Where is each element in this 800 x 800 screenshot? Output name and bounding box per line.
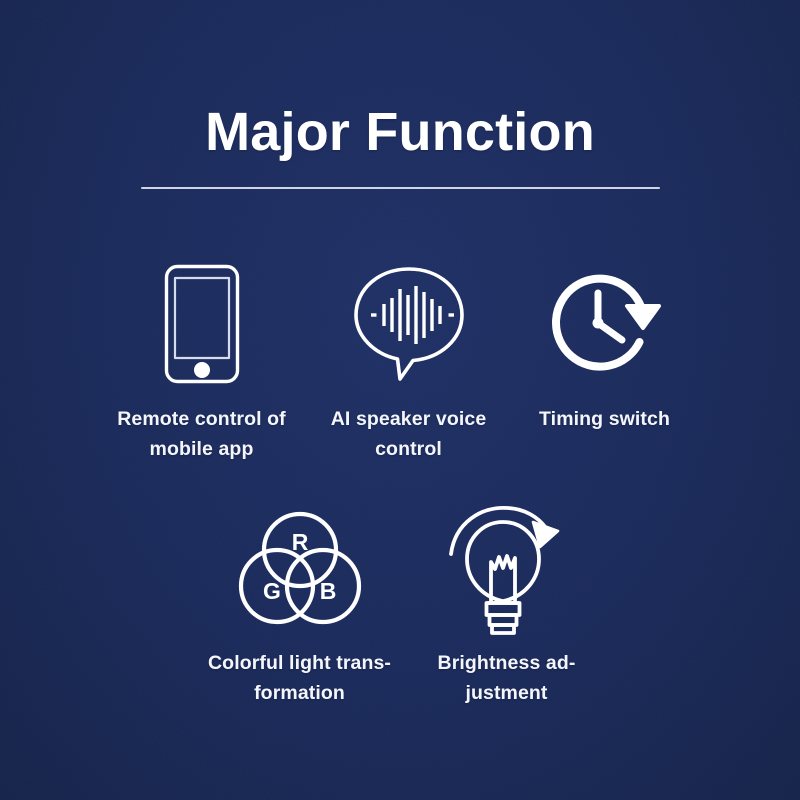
feature-row-top: Remote control of mobile app bbox=[0, 258, 800, 496]
title-divider bbox=[141, 187, 660, 189]
feature-caption: Colorful light trans- formation bbox=[200, 648, 400, 709]
caption-line: formation bbox=[200, 678, 400, 708]
feature-item-timing-switch[interactable]: Timing switch bbox=[507, 258, 703, 434]
rgb-venn-circles-icon: R G B bbox=[238, 502, 362, 634]
caption-line: Remote control of bbox=[102, 404, 302, 434]
feature-caption: AI speaker voice control bbox=[309, 404, 509, 465]
caption-line: mobile app bbox=[102, 434, 302, 464]
lightbulb-rotate-arrow-icon bbox=[445, 502, 569, 634]
feature-item-voice-control[interactable]: AI speaker voice control bbox=[311, 258, 507, 465]
caption-line: Colorful light trans- bbox=[200, 648, 400, 678]
page-title: Major Function bbox=[0, 104, 800, 161]
caption-line: Brightness ad- bbox=[407, 648, 607, 678]
feature-item-brightness[interactable]: Brightness ad- justment bbox=[409, 502, 605, 709]
poster-canvas: Major Function Remote control of mobile … bbox=[0, 0, 800, 800]
feature-item-color-change[interactable]: R G B Colorful light trans- formation bbox=[202, 502, 398, 709]
rgb-label-r: R bbox=[291, 529, 308, 555]
header: Major Function bbox=[0, 104, 800, 189]
feature-caption: Timing switch bbox=[505, 404, 705, 434]
caption-line: AI speaker voice bbox=[309, 404, 509, 434]
smartphone-icon bbox=[164, 258, 240, 390]
caption-line: justment bbox=[407, 678, 607, 708]
feature-caption: Remote control of mobile app bbox=[102, 404, 302, 465]
feature-row-bottom: R G B Colorful light trans- formation bbox=[0, 502, 800, 709]
feature-caption: Brightness ad- justment bbox=[407, 648, 607, 709]
caption-line: Timing switch bbox=[505, 404, 705, 434]
feature-grid: Remote control of mobile app bbox=[0, 258, 800, 709]
clock-timer-arrow-icon bbox=[549, 258, 661, 390]
speech-bubble-waveform-icon bbox=[351, 258, 467, 390]
rgb-label-g: G bbox=[263, 578, 281, 604]
caption-line: control bbox=[309, 434, 509, 464]
feature-item-remote-control[interactable]: Remote control of mobile app bbox=[104, 258, 300, 465]
rgb-label-b: B bbox=[319, 578, 336, 604]
